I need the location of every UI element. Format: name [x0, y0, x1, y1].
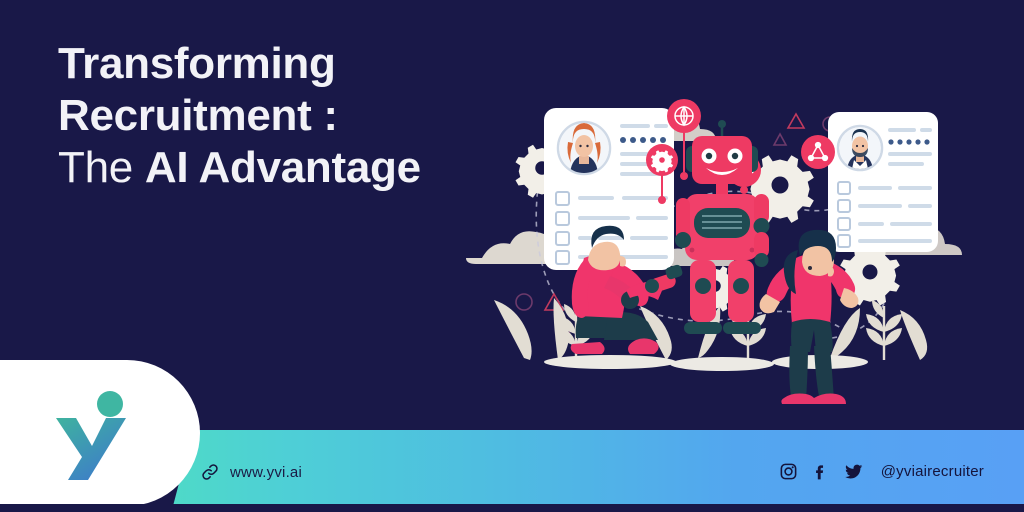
- logo-dot: [97, 391, 123, 417]
- male-avatar: [839, 127, 881, 169]
- headline-line-1: Transforming: [58, 38, 528, 90]
- globe-badge: [667, 99, 701, 133]
- instagram-icon[interactable]: [779, 462, 798, 481]
- headline-line-3: The AI Advantage: [58, 142, 528, 194]
- person-standing-right: [760, 230, 859, 404]
- female-avatar: [559, 123, 609, 173]
- resume-card-male: [828, 112, 938, 252]
- social-links: @yviairecruiter: [779, 461, 984, 482]
- website-url-text: www.yvi.ai: [230, 464, 302, 481]
- headline-line-2: Recruitment :: [58, 90, 528, 142]
- link-chain-icon: [200, 462, 220, 482]
- twitter-icon[interactable]: [843, 461, 864, 482]
- page-title: Transforming Recruitment : The AI Advant…: [58, 38, 528, 194]
- gear-badge: [646, 144, 678, 176]
- robot-arm-right: [754, 194, 770, 267]
- ai-recruitment-illustration: [480, 90, 950, 390]
- logo-panel: [0, 360, 200, 506]
- social-handle-text: @yviairecruiter: [881, 463, 984, 480]
- headline-line-3-light: The: [58, 143, 145, 192]
- network-badge: [801, 135, 835, 169]
- website-link[interactable]: www.yvi.ai: [200, 462, 302, 482]
- yvi-logo[interactable]: [38, 384, 148, 484]
- facebook-icon[interactable]: [811, 462, 830, 481]
- bottom-strip: [0, 504, 1024, 512]
- globe-icon: [675, 107, 693, 125]
- robot-head: [692, 136, 752, 184]
- banner: Transforming Recruitment : The AI Advant…: [0, 0, 1024, 512]
- headline-line-3-bold: AI Advantage: [145, 143, 421, 192]
